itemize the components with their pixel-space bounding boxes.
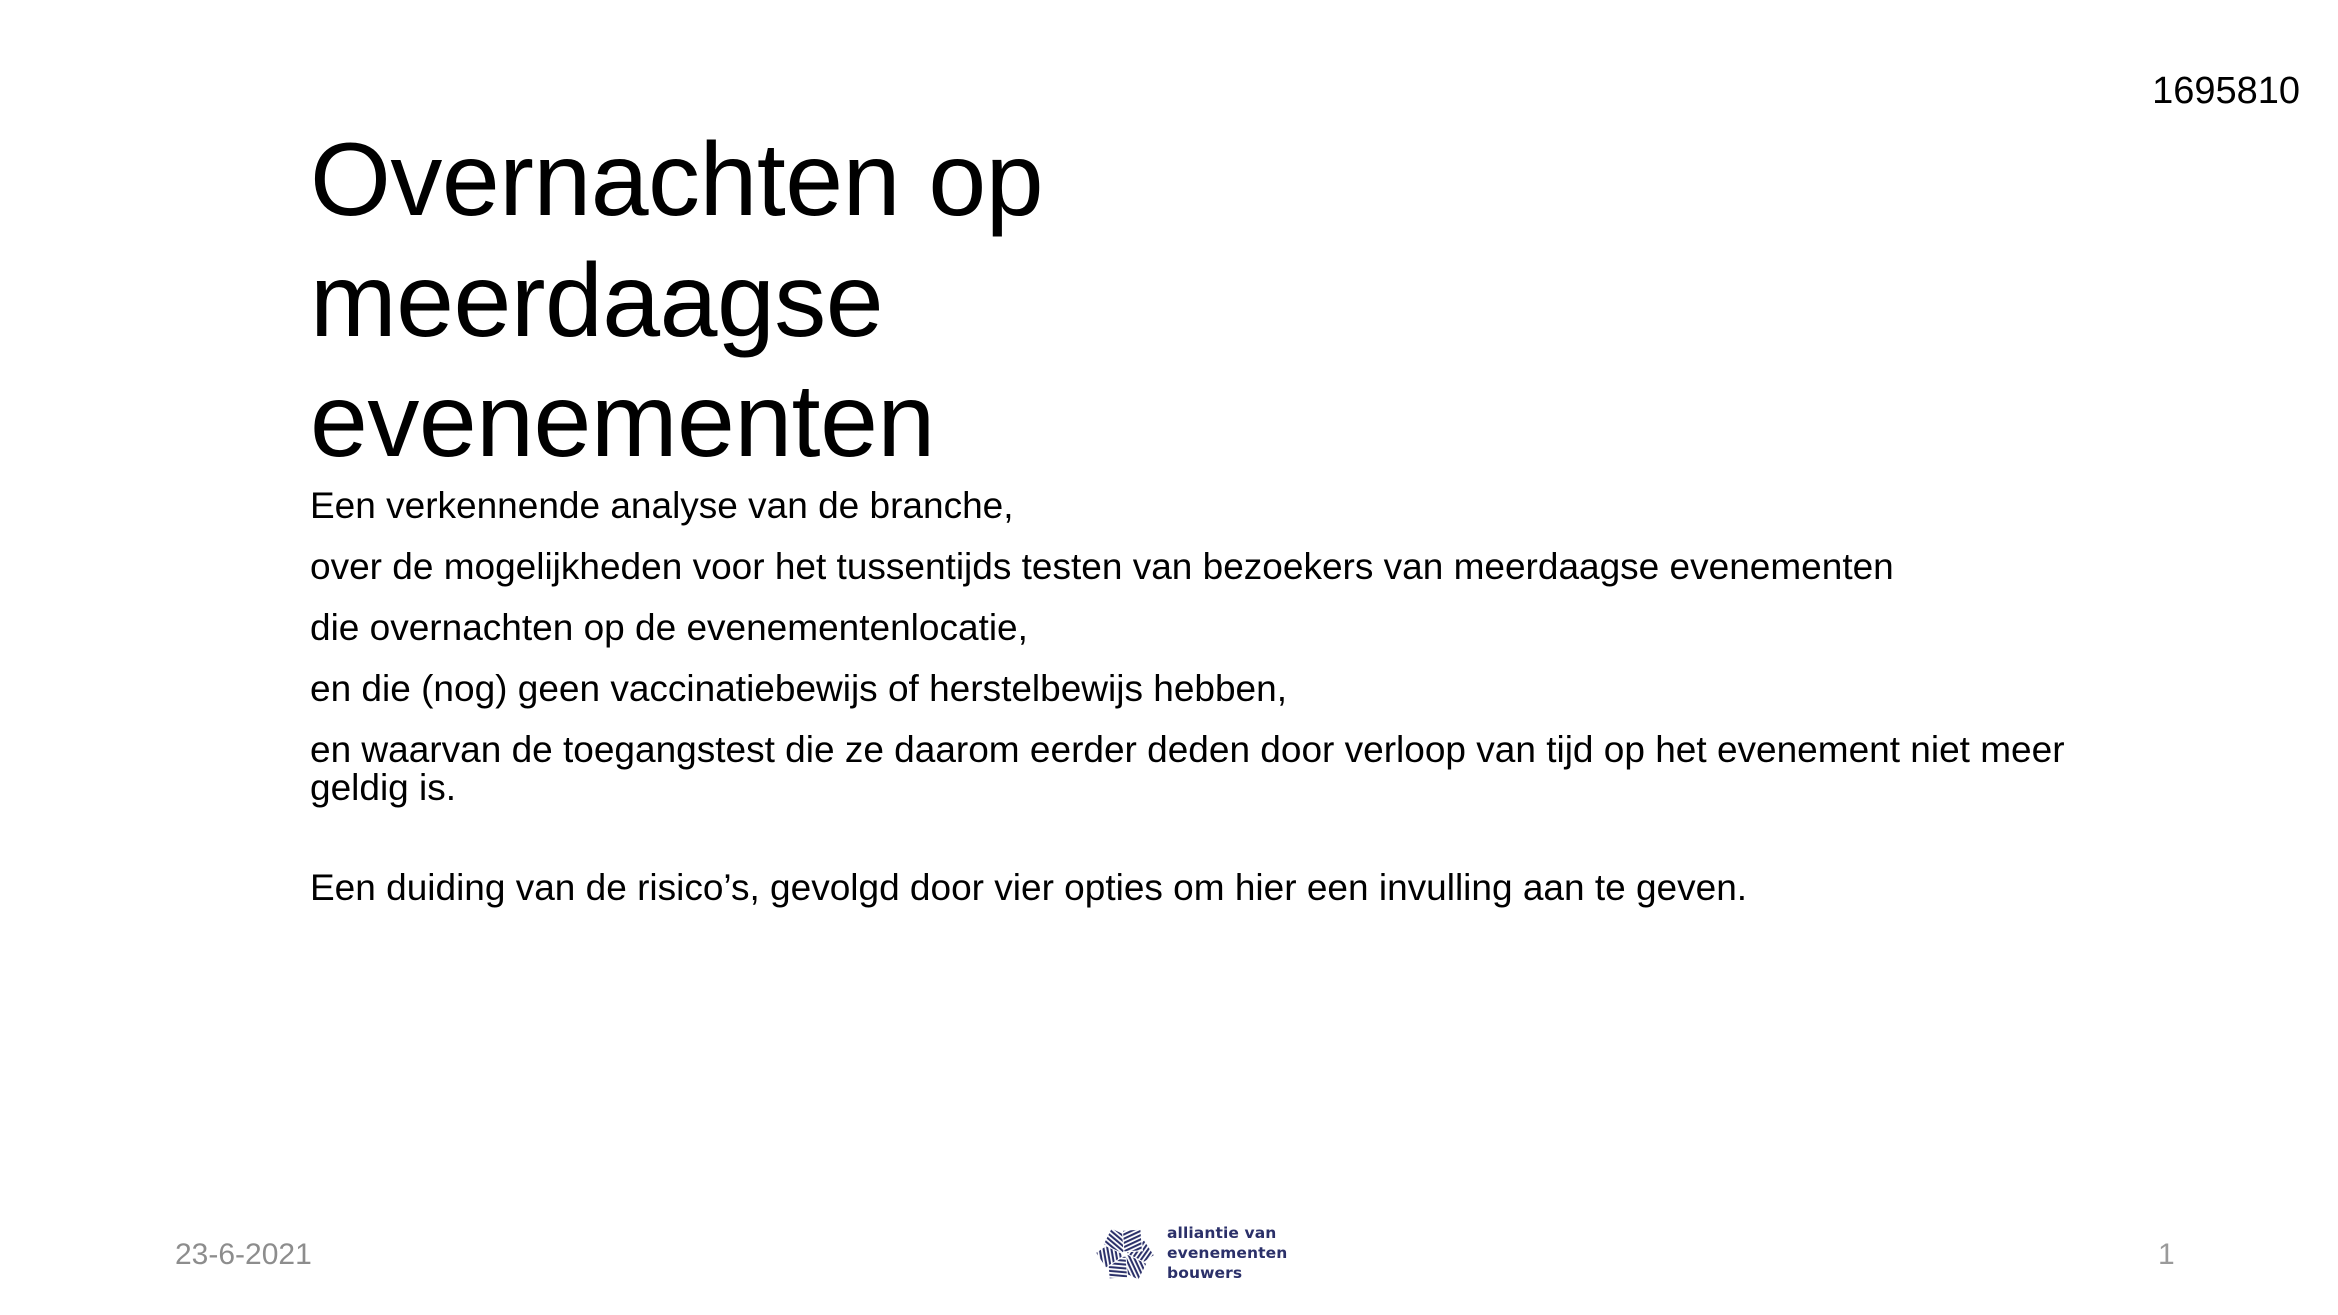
logo-wordmark-line-1: alliantie van (1167, 1224, 1287, 1244)
body-line-6: Een duiding van de risico’s, gevolgd doo… (310, 869, 2100, 906)
body-line-1: Een verkennende analyse van de branche, (310, 487, 2100, 524)
logo-wordmark-line-2: evenementen (1167, 1244, 1287, 1264)
slide-canvas: 1695810 Overnachten op meerdaagse evenem… (0, 0, 2338, 1315)
title-block: Overnachten op meerdaagse evenementen (310, 120, 2030, 482)
footer-date: 23-6-2021 (175, 1240, 312, 1270)
alliantie-hexagon-logo-mark (1093, 1222, 1157, 1286)
body-line-4: en die (nog) geen vaccinatiebewijs of he… (310, 670, 2100, 707)
body-line-5: en waarvan de toegangstest die ze daarom… (310, 731, 2070, 807)
reference-number: 1695810 (2152, 72, 2300, 110)
logo-wordmark: alliantie van evenementen bouwers (1167, 1224, 1287, 1283)
body-line-3: die overnachten op de evenementenlocatie… (310, 609, 2100, 646)
footer-page-number: 1 (2158, 1240, 2175, 1270)
body-line-2: over de mogelijkheden voor het tussentij… (310, 548, 2100, 585)
page-title: Overnachten op meerdaagse evenementen (310, 120, 1410, 482)
footer-logo: alliantie van evenementen bouwers (1093, 1222, 1287, 1286)
body-text-block: Een verkennende analyse van de branche, … (310, 487, 2100, 906)
logo-wordmark-line-3: bouwers (1167, 1264, 1287, 1284)
